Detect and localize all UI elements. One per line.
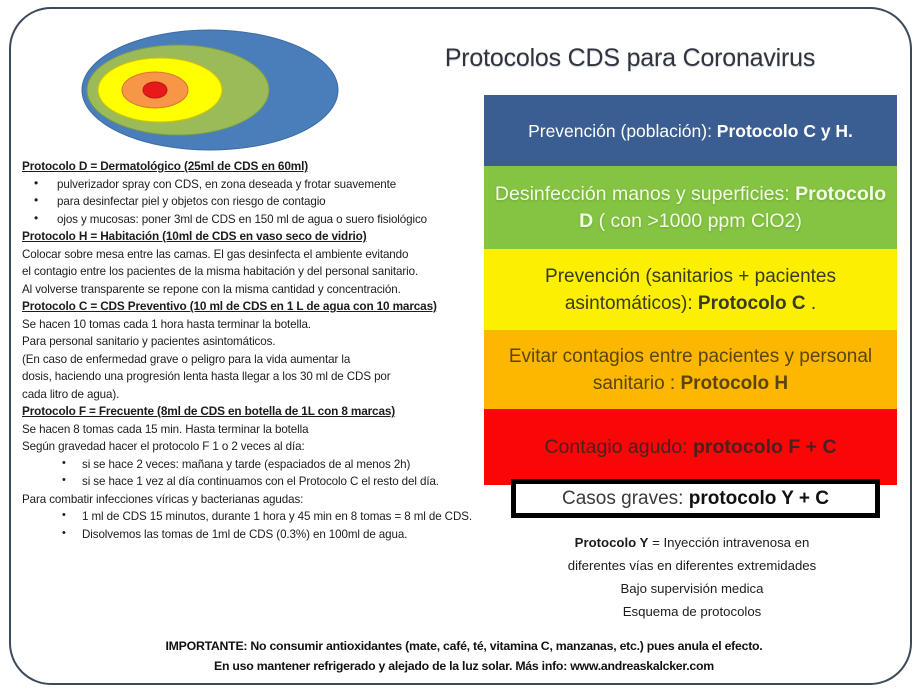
protocol-y-note: Protocolo Y = Inyección intravenosa en d…	[492, 531, 892, 623]
protocol-f-line-3: Para combatir infecciones víricas y bact…	[22, 491, 484, 509]
band-desinfeccion: Desinfección manos y superficies: Protoc…	[484, 166, 897, 249]
protocol-h-heading: Protocolo H = Habitación (10ml de CDS en…	[22, 228, 484, 246]
protocol-h-line-3: Al volverse transparente se repone con l…	[22, 281, 484, 299]
band-blue-text: Prevención (población):	[528, 121, 717, 141]
casos-graves-bold: protocolo Y + C	[689, 488, 829, 509]
protocol-y-line-2: diferentes vías en diferentes extremidad…	[492, 554, 892, 577]
protocol-h-line-2: el contagio entre los pacientes de la mi…	[22, 263, 484, 281]
band-red-bold: protocolo F + C	[693, 436, 837, 458]
protocol-f-bullet-4: Disolvemos las tomas de 1ml de CDS (0.3%…	[22, 526, 484, 544]
footer-line-1: IMPORTANTE: No consumir antioxidantes (m…	[40, 636, 888, 656]
protocol-y-line-3: Bajo supervisión medica	[492, 577, 892, 600]
protocol-f-bullet-1: si se hace 2 veces: mañana y tarde (espa…	[22, 456, 484, 474]
band-prevencion-poblacion: Prevención (población): Protocolo C y H.	[484, 95, 897, 166]
band-evitar-contagios: Evitar contagios entre pacientes y perso…	[484, 330, 897, 409]
footer-note: IMPORTANTE: No consumir antioxidantes (m…	[40, 636, 888, 676]
band-blue-bold: Protocolo C y H.	[717, 121, 853, 141]
band-prevencion-sanitarios: Prevención (sanitarios + pacientes asint…	[484, 249, 897, 330]
page-title: Protocolos CDS para Coronavirus	[360, 44, 900, 73]
protocol-c-line-3: (En caso de enfermedad grave o peligro p…	[22, 351, 484, 369]
footer-line-2: En uso mantener refrigerado y alejado de…	[40, 656, 888, 676]
protocol-d-bullet-3: ojos y mucosas: poner 3ml de CDS en 150 …	[22, 211, 484, 229]
protocol-y-line-1-rest: = Inyección intravenosa en	[648, 535, 809, 550]
protocol-c-heading: Protocolo C = CDS Preventivo (10 ml de C…	[22, 298, 484, 316]
protocol-f-bullet-2: si se hace 1 vez al día continuamos con …	[22, 473, 484, 491]
protocol-y-line-1: Protocolo Y = Inyección intravenosa en	[492, 531, 892, 554]
band-orange-bold: Protocolo H	[680, 373, 788, 394]
protocol-y-line-4: Esquema de protocolos	[492, 600, 892, 623]
protocol-c-line-2: Para personal sanitario y pacientes asin…	[22, 333, 484, 351]
band-green-text: Desinfección manos y superficies:	[495, 183, 795, 205]
protocols-text-column: Protocolo D = Dermatológico (25ml de CDS…	[22, 158, 484, 543]
band-red-text: Contagio agudo:	[544, 436, 693, 458]
concentric-ellipses-icon	[60, 24, 360, 156]
protocol-f-line-2: Según gravedad hacer el protocolo F 1 o …	[22, 438, 484, 456]
protocol-f-line-1: Se hacen 8 tomas cada 15 min. Hasta term…	[22, 421, 484, 439]
casos-graves-box: Casos graves: protocolo Y + C	[511, 479, 880, 518]
band-green-tail: ( con >1000 ppm ClO2)	[593, 210, 802, 232]
casos-graves-text: Casos graves:	[562, 488, 689, 509]
protocol-y-label: Protocolo Y	[575, 535, 649, 550]
protocol-f-heading: Protocolo F = Frecuente (8ml de CDS en b…	[22, 403, 484, 421]
poster-canvas: Protocolos CDS para Coronavirus Protocol…	[0, 0, 924, 694]
protocol-c-line-4: dosis, haciendo una progresión lenta has…	[22, 368, 484, 386]
band-contagio-agudo: Contagio agudo: protocolo F + C	[484, 409, 897, 485]
protocol-d-bullet-1: pulverizador spray con CDS, en zona dese…	[22, 176, 484, 194]
protocol-d-bullet-2: para desinfectar piel y objetos con ries…	[22, 193, 484, 211]
protocol-c-line-1: Se hacen 10 tomas cada 1 hora hasta term…	[22, 316, 484, 334]
ring-red-ellipse	[143, 82, 167, 98]
protocol-h-line-1: Colocar sobre mesa entre las camas. El g…	[22, 246, 484, 264]
protocol-d-heading: Protocolo D = Dermatológico (25ml de CDS…	[22, 158, 484, 176]
protocol-c-line-5: cada litro de agua).	[22, 386, 484, 404]
band-yellow-tail: .	[806, 293, 817, 314]
band-yellow-bold: Protocolo C	[698, 293, 806, 314]
protocol-f-bullet-3: 1 ml de CDS 15 minutos, durante 1 hora y…	[22, 508, 484, 526]
